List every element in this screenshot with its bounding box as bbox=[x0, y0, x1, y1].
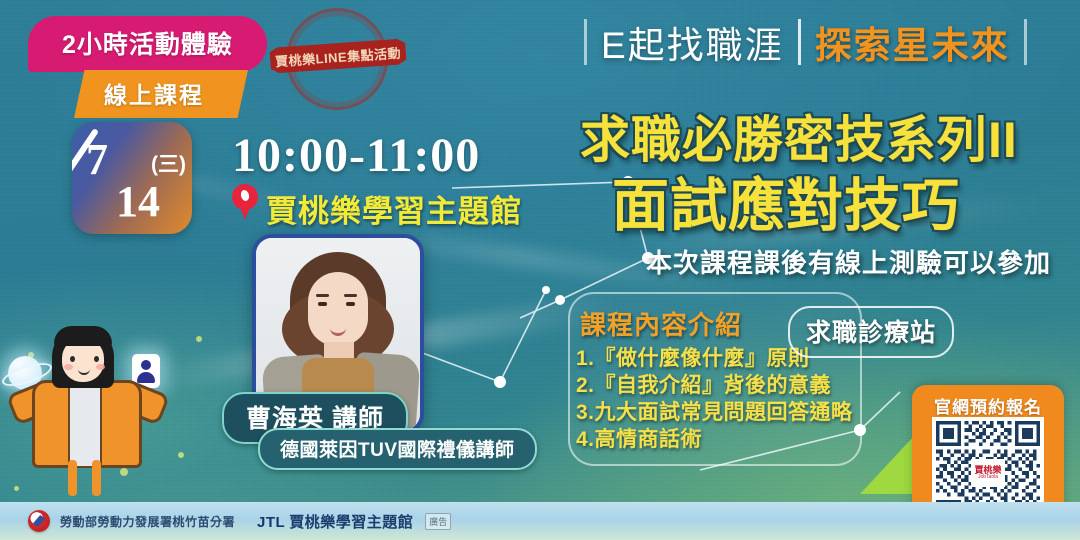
event-weekday: (三) bbox=[151, 148, 186, 178]
list-item: 3.九大面試常見問題回答通略 bbox=[576, 399, 853, 426]
footer-bar: 勞動部勞動力發展署桃竹苗分署 JTL賈桃樂學習主題館 廣告 bbox=[0, 502, 1080, 540]
event-day: 14 bbox=[116, 176, 160, 227]
registration-panel[interactable]: 官網預約報名 bbox=[912, 385, 1064, 515]
kicker-divider bbox=[1024, 19, 1027, 65]
registration-title: 官網預約報名 bbox=[912, 393, 1064, 418]
speaker-credential: 德國萊因TUV國際禮儀講師 bbox=[258, 428, 537, 470]
green-accent-shape bbox=[860, 436, 914, 494]
kicker-orange-text: 探索星未來 bbox=[815, 15, 1010, 69]
course-content-heading: 課程內容介紹 bbox=[580, 305, 742, 342]
promo-poster: 2小時活動體驗 線上課程 賈桃樂LINE集點活動 7 14 (三) 10:00-… bbox=[0, 0, 1080, 540]
event-month: 7 bbox=[86, 134, 108, 185]
mascot-illustration bbox=[6, 320, 166, 510]
kicker-white-text: E起找職涯 bbox=[601, 15, 784, 69]
ad-label: 廣告 bbox=[425, 513, 451, 530]
title-line-2: 面試應對技巧 bbox=[612, 160, 960, 242]
brand-name: 賈桃樂學習主題館 bbox=[289, 514, 413, 531]
sparkle-dot bbox=[196, 336, 202, 342]
location-pin-icon bbox=[232, 184, 258, 218]
job-clinic-badge: 求職診療站 bbox=[788, 306, 954, 358]
format-badge: 線上課程 bbox=[74, 70, 248, 118]
kicker-divider bbox=[584, 19, 587, 65]
event-date-tile: 7 14 (三) bbox=[72, 122, 192, 234]
course-subtitle: 本次課程課後有線上測驗可以參加 bbox=[646, 243, 1051, 280]
sparkle-dot bbox=[178, 452, 184, 458]
list-item: 2.『自我介紹』背後的意義 bbox=[576, 372, 853, 399]
brand-mark: JTL bbox=[257, 514, 285, 531]
organizer-name: 勞動部勞動力發展署桃竹苗分署 bbox=[60, 513, 235, 530]
kicker-divider bbox=[798, 19, 801, 65]
qr-center-logo: 賈桃樂 JobTaola bbox=[971, 459, 1005, 487]
duration-badge: 2小時活動體驗 bbox=[28, 16, 267, 72]
event-venue: 賈桃樂學習主題館 bbox=[266, 186, 522, 231]
qr-logo-subtext: JobTaola bbox=[978, 475, 998, 480]
brand-lockup: JTL賈桃樂學習主題館 bbox=[257, 511, 413, 532]
kicker-line: E起找職涯 探索星未來 bbox=[570, 16, 1041, 68]
government-logo-icon bbox=[28, 510, 50, 532]
list-item: 4.高情商話術 bbox=[576, 426, 853, 453]
line-points-stamp: 賈桃樂LINE集點活動 bbox=[268, 6, 408, 111]
course-content-list: 1.『做什麼像什麼』原則 2.『自我介紹』背後的意義 3.九大面試常見問題回答通… bbox=[576, 345, 853, 453]
event-time: 10:00-11:00 bbox=[232, 128, 480, 183]
